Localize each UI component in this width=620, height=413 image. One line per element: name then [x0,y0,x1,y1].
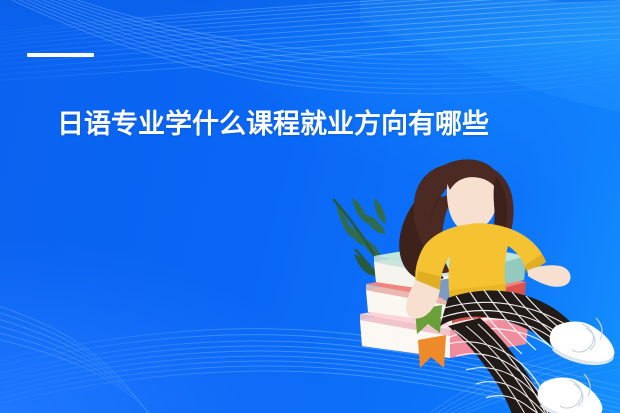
hero-illustration [330,158,620,413]
figure-shoe-upper [550,318,615,365]
student-sitting-on-books-graphic [330,158,620,413]
page-title: 日语专业学什么课程就业方向有哪些 [57,106,577,142]
article-cover-banner: 日语专业学什么课程就业方向有哪些 [0,0,620,413]
bookmark-orange [418,335,446,368]
title-accent-bar [27,53,94,57]
figure-shoe-lower [538,374,603,413]
